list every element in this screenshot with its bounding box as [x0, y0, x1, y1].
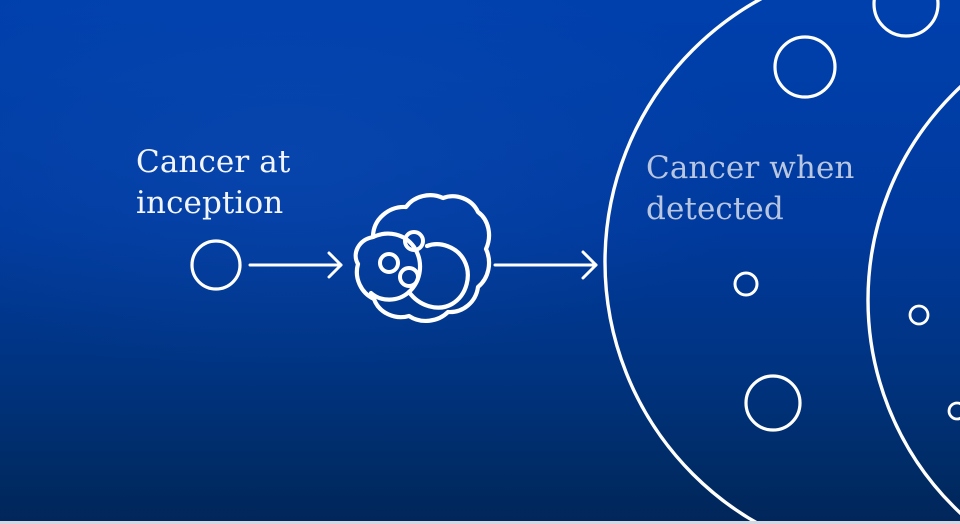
arrow-cluster-to-mass [495, 252, 596, 278]
cell-mid-small-icon [735, 273, 757, 295]
detected-tumor-mass-secondary [868, 8, 960, 524]
early-cell-cluster-icon [356, 195, 489, 321]
illustration-layer [0, 0, 960, 524]
inception-single-cell-icon [192, 241, 240, 289]
arrow-inception-to-cluster [250, 253, 341, 277]
cell-upper-icon [775, 37, 835, 97]
cell-right-small-icon [910, 306, 928, 324]
cell-right-edge-cut-icon [949, 403, 960, 419]
slide-canvas: Cancer at inception Cancer when detected [0, 0, 960, 524]
label-cancer-when-detected: Cancer when detected [646, 148, 854, 230]
cell-top-right-cut-icon [874, 0, 938, 36]
label-cancer-at-inception: Cancer at inception [136, 142, 290, 224]
cell-lower-icon [746, 376, 800, 430]
